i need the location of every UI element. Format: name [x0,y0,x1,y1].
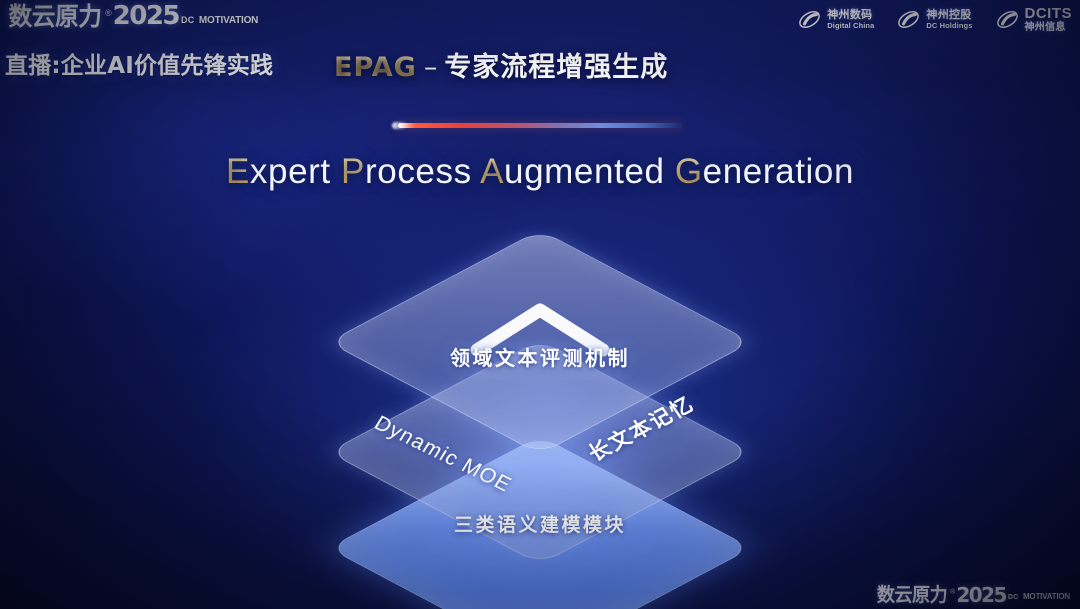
swirl-icon [797,7,822,32]
subtitle-word-process: rocess [365,152,480,191]
layered-architecture-diagram: 领域文本评测机制 Dynamic MOE 长文本记忆 三类语义建模模块 [280,220,800,580]
headline-subtitle-cn: 专家流程增强生成 [444,52,668,83]
watermark-registered-mark: ® [950,588,955,597]
subtitle-cap-a: A [480,152,504,191]
partner-name-en: DCITS [1025,6,1073,21]
watermark-dc-motivation: DC MOTIVATION [1008,586,1070,604]
partner-name-cn: 神州信息 [1025,23,1073,33]
partner-logo-dcits: DCITS 神州信息 [995,6,1073,33]
brand-logo-top-left: 数云原力 ® 2025 DC MOTIVATION [6,3,258,29]
subtitle-word-expert: xpert [250,152,341,191]
partner-text: 神州控股 DC Holdings [926,9,972,30]
brand-year: 2025 [113,3,179,29]
partner-name-cn: 神州控股 [926,9,972,20]
presentation-slide: 数云原力 ® 2025 DC MOTIVATION 直播:企业AI价值先锋实践 … [0,0,1080,609]
subtitle-expanded-acronym: Expert Process Augmented Generation [0,150,1080,194]
headline-dash: – [417,52,445,83]
swirl-icon [896,7,921,32]
partner-logo-digital-china: 神州数码 Digital China [797,7,874,32]
subtitle-cap-e: E [226,152,250,191]
page-title: EPAG–专家流程增强生成 [334,52,668,84]
partner-logo-group: 神州数码 Digital China 神州控股 DC Holdings DCIT… [797,6,1072,33]
subtitle-word-augmented: ugmented [504,152,675,191]
gradient-divider [398,123,682,128]
partner-name-en: Digital China [827,22,874,30]
swirl-icon [995,7,1020,32]
subtitle-cap-g: G [675,152,703,191]
diagram-layer-top-label: 领域文本评测机制 [280,342,800,371]
brand-watermark-bottom-right: 数云原力 ® 2025 DC MOTIVATION [875,585,1070,605]
partner-name-en: DC Holdings [926,22,972,30]
partner-text: 神州数码 Digital China [827,9,874,30]
brand-dc-line1: DC [181,15,194,25]
brand-dc-motivation: DC MOTIVATION [181,10,258,28]
partner-logo-dc-holdings: 神州控股 DC Holdings [896,7,972,32]
live-broadcast-tag: 直播:企业AI价值先锋实践 [5,52,273,80]
subtitle-word-generation: eneration [703,152,854,191]
partner-text: DCITS 神州信息 [1025,6,1073,33]
brand-name-cn: 数云原力 [8,4,101,29]
diagram-layer-bottom-label: 三类语义建模模块 [280,510,800,537]
registered-mark: ® [105,9,112,18]
headline-acronym: EPAG [334,52,417,83]
partner-name-cn: 神州数码 [827,9,874,20]
watermark-dc-line1: DC [1008,594,1019,601]
brand-dc-line2: MOTIVATION [199,15,258,26]
subtitle-cap-p: P [341,152,365,191]
watermark-name-cn: 数云原力 [877,586,947,605]
watermark-year: 2025 [956,585,1006,605]
watermark-dc-line2: MOTIVATION [1023,592,1070,601]
